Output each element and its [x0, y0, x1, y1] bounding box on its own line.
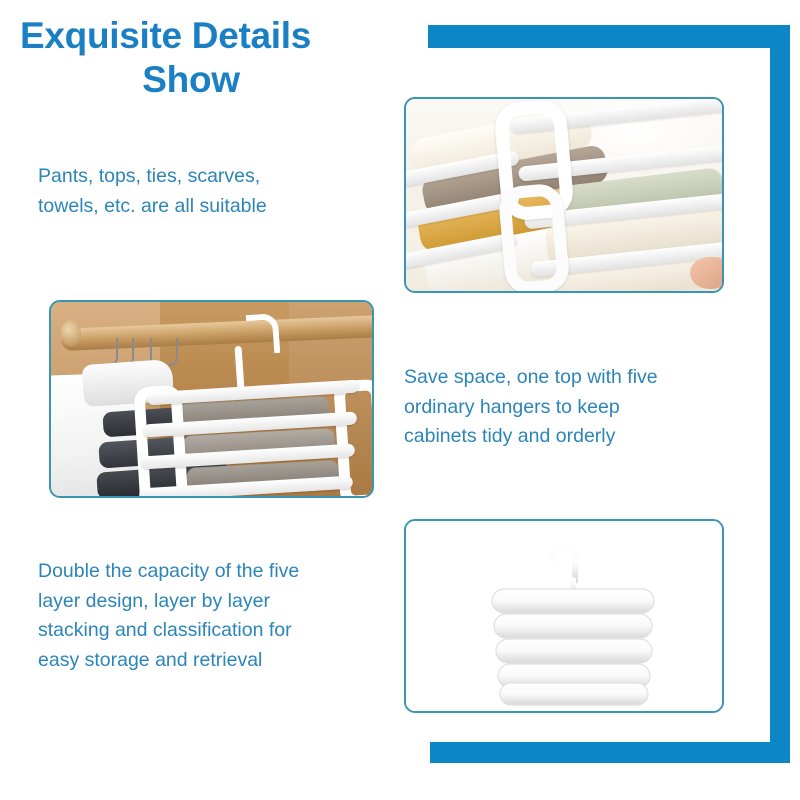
closet-rod-cap — [61, 320, 81, 346]
photo-card-closet — [49, 300, 374, 498]
top-accent-bar — [428, 25, 790, 48]
feature-text-double-capacity: Double the capacity of the five layer de… — [38, 557, 383, 676]
photo-product-hanger — [406, 521, 722, 711]
feature-text-save-space: Save space, one top with five ordinary h… — [404, 363, 734, 452]
photo-closet-with-pants — [51, 302, 372, 496]
hanger-hook-icon — [553, 548, 575, 581]
photo-card-towels — [404, 97, 724, 293]
hanger-layer-2 — [494, 614, 652, 638]
hanger-layer-1 — [492, 589, 654, 613]
hanger-hook-icon — [246, 313, 281, 355]
page-title: Exquisite Details Show — [20, 14, 420, 101]
hanger-hook-icon — [169, 338, 178, 366]
right-accent-bar — [770, 25, 790, 763]
hanger-layer-3 — [496, 639, 652, 663]
hanger-loop — [497, 182, 570, 293]
photo-card-product — [404, 519, 724, 713]
photo-towels-on-hangers — [406, 99, 722, 291]
page-title-line-1: Exquisite Details — [20, 14, 420, 58]
hanger-stem — [234, 346, 244, 390]
infographic-page: Exquisite Details Show Pants, tops, ties… — [0, 0, 800, 800]
page-title-line-2: Show — [20, 58, 420, 102]
hanger-layer-5 — [500, 683, 648, 705]
feature-text-suitable-items: Pants, tops, ties, scarves, towels, etc.… — [38, 162, 378, 221]
bottom-accent-bar — [430, 742, 790, 763]
fingertip — [690, 257, 724, 289]
five-layer-hanger-icon — [406, 521, 722, 711]
